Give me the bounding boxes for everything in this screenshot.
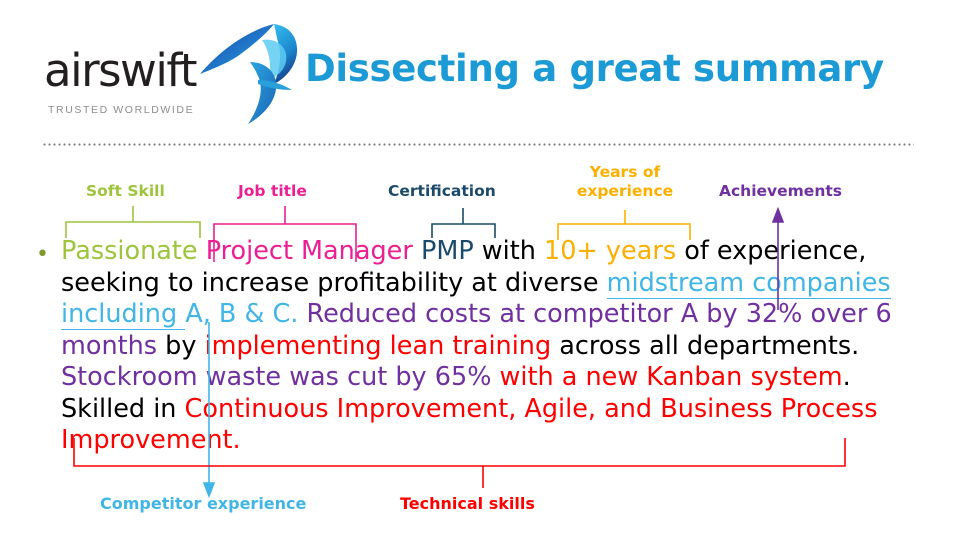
summary-segment: implementing lean training xyxy=(205,331,552,361)
annotation-label-technical-skills: Technical skills xyxy=(400,494,535,513)
bracket-soft-skill xyxy=(66,206,200,238)
summary-segment: 10+ years xyxy=(544,236,676,266)
summary-segment: PMP xyxy=(421,236,474,266)
summary-segment: by xyxy=(157,331,205,361)
header-divider xyxy=(42,143,914,146)
summary-segment: across all departments. xyxy=(551,331,859,361)
page-title: Dissecting a great summary xyxy=(305,47,884,90)
annotation-label-job-title: Job title xyxy=(238,182,307,201)
annotation-label-years-of-experience: Years of experience xyxy=(555,163,695,201)
summary-segment: A, B & C. xyxy=(185,299,298,329)
annotation-label-certification: Certification xyxy=(388,182,496,201)
annotation-label-soft-skill: Soft Skill xyxy=(86,182,165,201)
annotation-label-competitor-experience: Competitor experience xyxy=(100,494,306,513)
summary-segment: Stockroom waste was cut by 65% xyxy=(61,362,491,392)
airswift-logo: airswift TRUSTED WORLDWIDE xyxy=(38,22,288,127)
summary-segment: with xyxy=(474,236,544,266)
summary-segment: Passionate xyxy=(61,236,206,266)
summary-text: Passionate Project Manager PMP with 10+ … xyxy=(61,236,916,457)
summary-segment xyxy=(491,362,499,392)
logo-tagline: TRUSTED WORLDWIDE xyxy=(48,104,194,116)
annotation-label-achievements: Achievements xyxy=(719,182,842,201)
bracket-certification xyxy=(432,208,495,238)
slide-header: airswift TRUSTED WORLDWIDE xyxy=(0,0,960,150)
summary-paragraph: • Passionate Project Manager PMP with 10… xyxy=(36,236,916,457)
bullet-glyph: • xyxy=(36,244,49,266)
summary-segment: with a new Kanban system xyxy=(500,362,843,392)
summary-segment: Project Manager xyxy=(206,236,421,266)
swift-bird-logo-icon xyxy=(198,18,308,128)
summary-segment xyxy=(298,299,306,329)
logo-wordmark: airswift xyxy=(44,48,196,93)
